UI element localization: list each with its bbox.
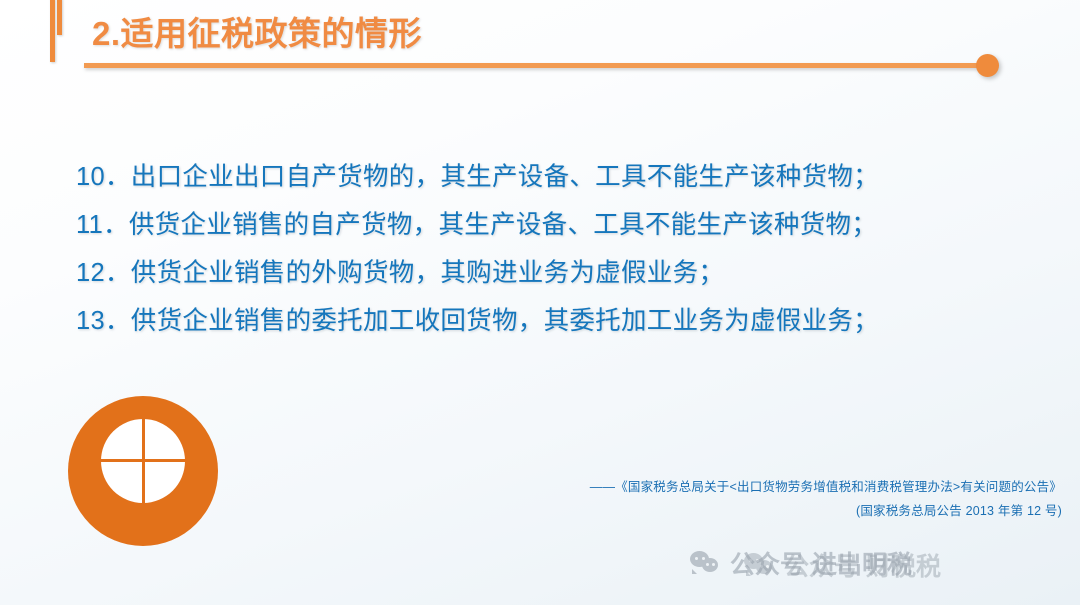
source-citation-line-1: ——《国家税务总局关于<出口货物劳务增值税和消费税管理办法>有关问题的公告》 (590, 475, 1062, 499)
list-item-text: 出口企业出口自产货物的，其生产设备、工具不能生产该种货物； (131, 163, 879, 191)
list-item: 10．出口企业出口自产货物的，其生产设备、工具不能生产该种货物； (76, 153, 1036, 201)
wechat-dot (695, 557, 698, 560)
list-item-text: 供货企业销售的外购货物，其购进业务为虚假业务； (131, 259, 724, 287)
title-accent-bar-short (57, 0, 62, 35)
list-item-text: 供货企业销售的委托加工收回货物，其委托加工业务为虚假业务； (131, 307, 879, 335)
wechat-dot (702, 557, 705, 560)
title-accent-bar-tall (50, 0, 55, 62)
slide-canvas: 2.适用征税政策的情形 10．出口企业出口自产货物的，其生产设备、工具不能生产该… (0, 0, 1080, 605)
wechat-bubble-tail (692, 569, 697, 574)
list-item-text: 供货企业销售的自产货物，其生产设备、工具不能生产该种货物； (129, 211, 877, 239)
watermark-layer-front: 公众号 进出明税 (690, 545, 912, 581)
source-citation: ——《国家税务总局关于<出口货物劳务增值税和消费税管理办法>有关问题的公告》 (… (590, 475, 1062, 523)
header-end-dot (976, 54, 999, 77)
page-title: 2.适用征税政策的情形 (92, 7, 422, 55)
list-item: 11．供货企业销售的自产货物，其生产设备、工具不能生产该种货物； (76, 201, 1036, 249)
list-item-number: 10． (76, 153, 131, 201)
list-item-number: 13． (76, 297, 131, 345)
list-item: 13．供货企业销售的委托加工收回货物，其委托加工业务为虚假业务； (76, 297, 1036, 345)
logo-cross-horizontal (98, 459, 188, 462)
wechat-dot (712, 563, 715, 566)
wechat-dot (706, 563, 709, 566)
wechat-icon (690, 551, 720, 575)
watermark-text-front: 公众号 进出明税 (730, 545, 912, 581)
watermark: 公众号 财税税 公众号 进出明税 (690, 545, 1070, 591)
quadrant-circle-icon (68, 396, 218, 546)
list-item-number: 11． (76, 201, 129, 249)
list-item: 12．供货企业销售的外购货物，其购进业务为虚假业务； (76, 249, 1036, 297)
source-citation-line-2: (国家税务总局公告 2013 年第 12 号) (590, 499, 1062, 523)
body-list: 10．出口企业出口自产货物的，其生产设备、工具不能生产该种货物； 11．供货企业… (76, 153, 1036, 345)
header-divider-rule (84, 63, 980, 68)
wechat-bubble-small (702, 558, 718, 572)
list-item-number: 12． (76, 249, 131, 297)
